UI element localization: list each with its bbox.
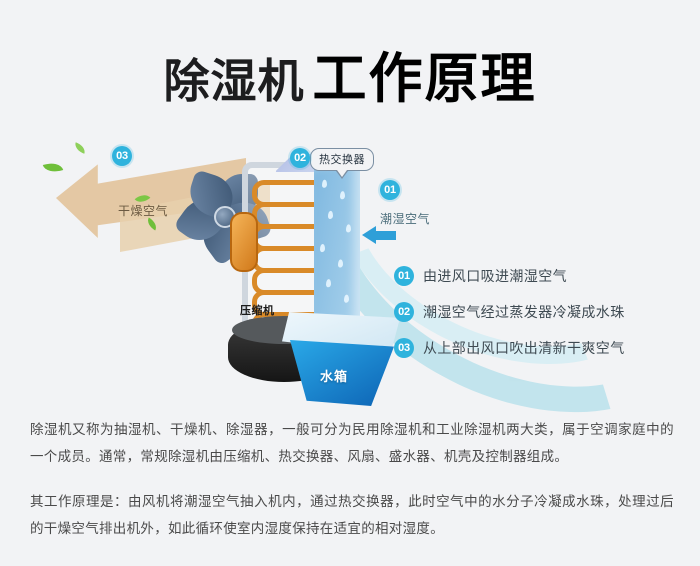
humid-air-caption: 潮湿空气 bbox=[380, 210, 430, 227]
dry-air-caption: 干燥空气 bbox=[118, 202, 168, 219]
step-text: 由进风口吸进潮湿空气 bbox=[423, 266, 567, 286]
step-badge: 01 bbox=[394, 266, 414, 286]
evaporator-fin-block-icon bbox=[314, 161, 360, 327]
heat-exchanger-callout: 热交换器 bbox=[310, 148, 374, 171]
step-text: 潮湿空气经过蒸发器冷凝成水珠 bbox=[423, 302, 625, 322]
air-intake-arrow-tail bbox=[374, 231, 396, 240]
water-droplet-icon bbox=[338, 259, 343, 268]
water-droplet-icon bbox=[320, 244, 325, 253]
water-droplet-icon bbox=[328, 211, 333, 220]
list-item: 01 由进风口吸进潮湿空气 bbox=[394, 258, 694, 294]
diagram-badge-02: 02 bbox=[290, 148, 310, 168]
step-badge: 03 bbox=[394, 338, 414, 358]
list-item: 03 从上部出风口吹出清新干爽空气 bbox=[394, 330, 694, 366]
page-title-part1: 除湿机 bbox=[164, 55, 305, 107]
list-item: 02 潮湿空气经过蒸发器冷凝成水珠 bbox=[394, 294, 694, 330]
page-title: 除湿机工作原理 bbox=[0, 34, 700, 113]
leaf-icon bbox=[43, 159, 64, 175]
compressor-label: 压缩机 bbox=[240, 302, 275, 318]
water-droplet-icon bbox=[326, 279, 331, 288]
description-section: 除湿机又称为抽湿机、干燥机、除湿器，一般可分为民用除湿机和工业除湿机两大类，属于… bbox=[30, 416, 674, 542]
water-droplet-icon bbox=[346, 224, 351, 233]
process-step-list: 01 由进风口吸进潮湿空气 02 潮湿空气经过蒸发器冷凝成水珠 03 从上部出风… bbox=[394, 258, 694, 366]
water-tank-label: 水箱 bbox=[320, 366, 348, 385]
water-droplet-icon bbox=[344, 294, 349, 303]
description-paragraph-1: 除湿机又称为抽湿机、干燥机、除湿器，一般可分为民用除湿机和工业除湿机两大类，属于… bbox=[30, 416, 674, 470]
page-title-part2: 工作原理 bbox=[313, 49, 537, 109]
water-droplet-icon bbox=[322, 179, 327, 188]
diagram-badge-03: 03 bbox=[112, 146, 132, 166]
step-badge: 02 bbox=[394, 302, 414, 322]
diagram-badge-01: 01 bbox=[380, 180, 400, 200]
water-droplet-icon bbox=[340, 191, 345, 200]
description-paragraph-2: 其工作原理是：由风机将潮湿空气抽入机内，通过热交换器，此时空气中的水分子冷凝成水… bbox=[30, 488, 674, 542]
leaf-icon bbox=[73, 142, 87, 154]
step-text: 从上部出风口吹出清新干爽空气 bbox=[423, 338, 625, 358]
compressor-cylinder-icon bbox=[230, 212, 258, 272]
